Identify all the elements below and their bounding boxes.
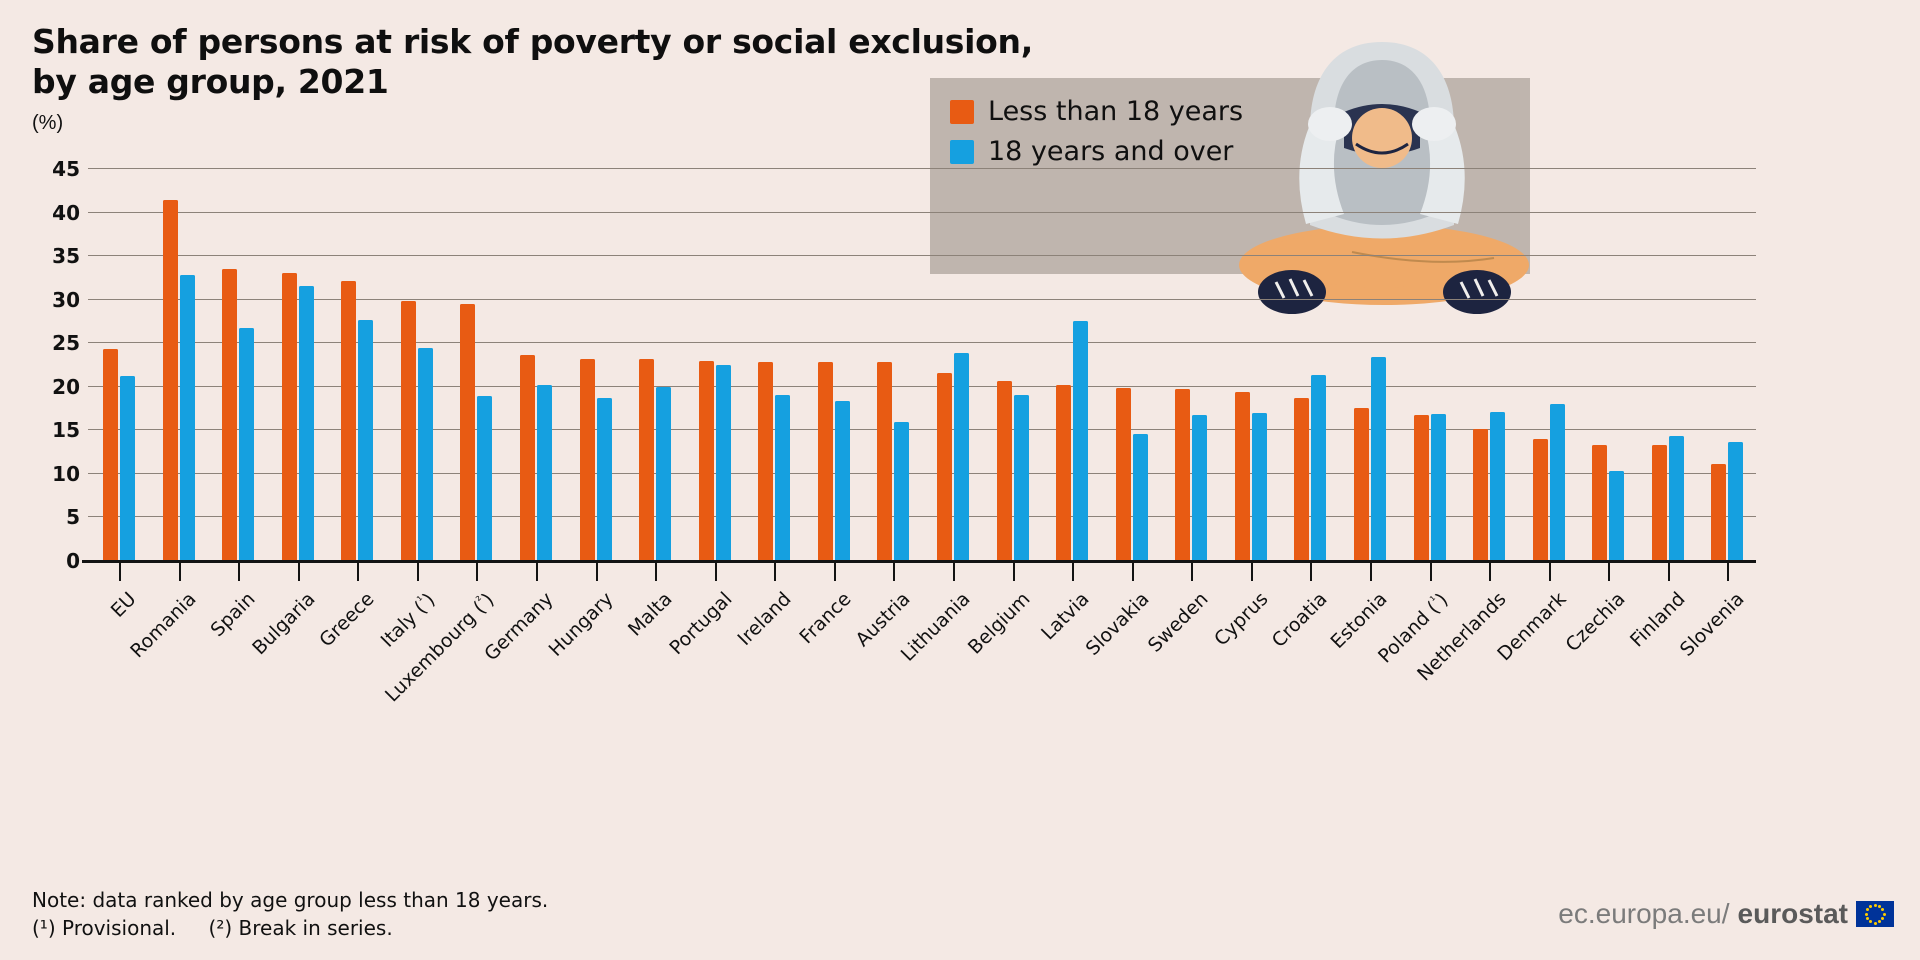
bar-18-and-over[interactable] [1192, 415, 1207, 560]
x-label-sweden: Sweden [1144, 588, 1213, 657]
legend-label-less-than-18: Less than 18 years [988, 96, 1243, 127]
bar-18-and-over[interactable] [1014, 395, 1029, 561]
bar-group [1294, 168, 1328, 560]
bar-less-than-18[interactable] [282, 273, 297, 560]
y-tick-15: 15 [20, 418, 80, 442]
bar-less-than-18[interactable] [1294, 398, 1309, 560]
chart-legend: Less than 18 years 18 years and over [950, 96, 1243, 176]
x-label-cyprus: Cyprus [1210, 588, 1272, 650]
bar-group [818, 168, 852, 560]
y-tick-30: 30 [20, 288, 80, 312]
bar-18-and-over[interactable] [418, 348, 433, 560]
bar-less-than-18[interactable] [1473, 429, 1488, 560]
bar-18-and-over[interactable] [358, 320, 373, 560]
brand-name: eurostat [1738, 898, 1848, 930]
bar-group [1116, 168, 1150, 560]
bar-less-than-18[interactable] [699, 361, 714, 560]
y-tick-5: 5 [20, 505, 80, 529]
notes-block: Note: data ranked by age group less than… [32, 886, 548, 943]
note-ranking: Note: data ranked by age group less than… [32, 886, 548, 914]
bar-18-and-over[interactable] [1252, 413, 1267, 560]
title-line-1: Share of persons at risk of poverty or s… [32, 22, 1132, 62]
bar-less-than-18[interactable] [1652, 445, 1667, 560]
bar-18-and-over[interactable] [537, 385, 552, 560]
legend-swatch-orange [950, 100, 974, 124]
bar-group [460, 168, 494, 560]
x-label-spain: Spain [207, 588, 260, 641]
y-tick-0: 0 [20, 549, 80, 573]
bar-group [1652, 168, 1686, 560]
bar-series-container [88, 168, 1756, 560]
eu-flag-icon [1856, 901, 1894, 927]
bar-18-and-over[interactable] [120, 376, 135, 560]
bar-less-than-18[interactable] [1592, 445, 1607, 560]
x-label-eu: EU [107, 588, 141, 622]
bar-group [1235, 168, 1269, 560]
legend-label-18-and-over: 18 years and over [988, 136, 1233, 167]
bar-group [758, 168, 792, 560]
legend-swatch-blue [950, 140, 974, 164]
bar-18-and-over[interactable] [1728, 442, 1743, 560]
legend-item-18-and-over[interactable]: 18 years and over [950, 136, 1243, 167]
bar-less-than-18[interactable] [997, 381, 1012, 560]
bar-18-and-over[interactable] [180, 275, 195, 560]
footnote-1: (¹) Provisional. [32, 916, 176, 940]
bar-18-and-over[interactable] [835, 401, 850, 560]
bar-less-than-18[interactable] [1116, 388, 1131, 560]
bar-less-than-18[interactable] [1533, 439, 1548, 560]
bar-group [401, 168, 435, 560]
bar-less-than-18[interactable] [163, 200, 178, 560]
bar-group [1354, 168, 1388, 560]
bar-18-and-over[interactable] [894, 422, 909, 561]
legend-item-less-than-18[interactable]: Less than 18 years [950, 96, 1243, 127]
bar-group [222, 168, 256, 560]
bar-18-and-over[interactable] [1311, 375, 1326, 560]
x-label-hungary: Hungary [544, 588, 617, 661]
bar-less-than-18[interactable] [1354, 408, 1369, 560]
bar-18-and-over[interactable] [239, 328, 254, 560]
x-label-greece: Greece [315, 588, 378, 651]
bar-less-than-18[interactable] [1056, 385, 1071, 560]
x-label-czechia: Czechia [1562, 588, 1630, 656]
bar-group [639, 168, 673, 560]
bar-18-and-over[interactable] [1609, 471, 1624, 560]
bar-less-than-18[interactable] [460, 304, 475, 560]
bar-less-than-18[interactable] [103, 349, 118, 560]
bar-group [937, 168, 971, 560]
bar-18-and-over[interactable] [1550, 404, 1565, 560]
bar-18-and-over[interactable] [775, 395, 790, 561]
bar-less-than-18[interactable] [758, 362, 773, 560]
bar-group [282, 168, 316, 560]
x-axis-labels: EURomaniaSpainBulgariaGreeceItaly (¹)Lux… [88, 560, 1788, 740]
bar-less-than-18[interactable] [1175, 389, 1190, 560]
bar-less-than-18[interactable] [877, 362, 892, 560]
x-label-belgium: Belgium [963, 588, 1034, 659]
x-label-france: France [795, 588, 855, 648]
eurostat-brand[interactable]: ec.europa.eu/eurostat [1558, 898, 1894, 930]
bar-18-and-over[interactable] [477, 396, 492, 560]
x-label-portugal: Portugal [665, 588, 736, 659]
bar-group [1473, 168, 1507, 560]
bar-group [1056, 168, 1090, 560]
y-tick-45: 45 [20, 157, 80, 181]
bar-group [1533, 168, 1567, 560]
y-tick-25: 25 [20, 331, 80, 355]
bar-less-than-18[interactable] [520, 355, 535, 560]
chart-plot-area: 051015202530354045 [88, 168, 1756, 560]
y-tick-10: 10 [20, 462, 80, 486]
brand-url-prefix: ec.europa.eu/ [1558, 898, 1729, 930]
bar-18-and-over[interactable] [1490, 412, 1505, 560]
bar-group [997, 168, 1031, 560]
bar-18-and-over[interactable] [299, 286, 314, 560]
bar-group [699, 168, 733, 560]
x-label-croatia: Croatia [1268, 588, 1332, 652]
y-tick-35: 35 [20, 244, 80, 268]
bar-group [877, 168, 911, 560]
y-tick-40: 40 [20, 201, 80, 225]
x-label-malta: Malta [624, 588, 677, 641]
bar-18-and-over[interactable] [716, 365, 731, 560]
bar-group [580, 168, 614, 560]
x-label-bulgaria: Bulgaria [248, 588, 319, 659]
bar-group [1592, 168, 1626, 560]
bar-group [1414, 168, 1448, 560]
bar-18-and-over[interactable] [656, 387, 671, 560]
bar-group [1711, 168, 1745, 560]
bar-less-than-18[interactable] [1235, 392, 1250, 560]
x-label-ireland: Ireland [734, 588, 796, 650]
bar-less-than-18[interactable] [1414, 415, 1429, 560]
bar-18-and-over[interactable] [1371, 357, 1386, 560]
x-label-slovenia: Slovenia [1676, 588, 1749, 661]
bar-less-than-18[interactable] [818, 362, 833, 560]
bar-less-than-18[interactable] [580, 359, 595, 560]
bar-less-than-18[interactable] [401, 301, 416, 560]
bar-18-and-over[interactable] [1133, 434, 1148, 560]
bar-group [103, 168, 137, 560]
bar-less-than-18[interactable] [937, 373, 952, 560]
bar-18-and-over[interactable] [954, 353, 969, 560]
bar-less-than-18[interactable] [639, 359, 654, 560]
bar-group [341, 168, 375, 560]
y-tick-20: 20 [20, 375, 80, 399]
bar-18-and-over[interactable] [1669, 436, 1684, 560]
footnote-2: (²) Break in series. [209, 916, 393, 940]
bar-less-than-18[interactable] [341, 281, 356, 560]
bar-group [520, 168, 554, 560]
bar-18-and-over[interactable] [1431, 414, 1446, 560]
bar-group [1175, 168, 1209, 560]
bar-less-than-18[interactable] [222, 269, 237, 560]
x-label-slovakia: Slovakia [1081, 588, 1153, 660]
bar-18-and-over[interactable] [1073, 321, 1088, 560]
bar-group [163, 168, 197, 560]
x-label-latvia: Latvia [1037, 588, 1093, 644]
bar-18-and-over[interactable] [597, 398, 612, 560]
bar-less-than-18[interactable] [1711, 464, 1726, 560]
